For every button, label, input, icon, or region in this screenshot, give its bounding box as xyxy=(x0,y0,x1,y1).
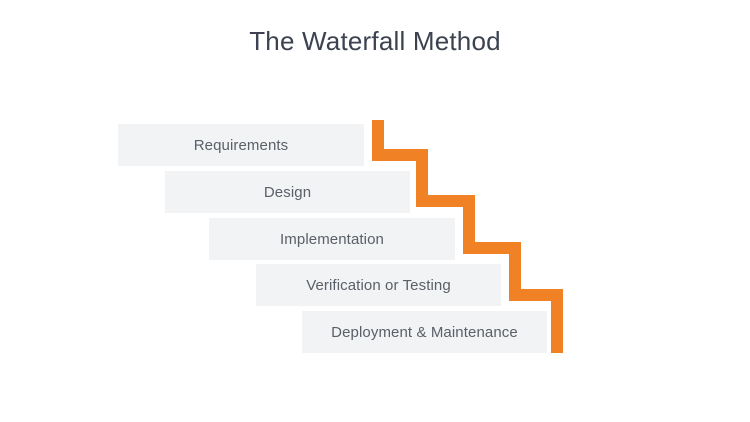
slide-canvas: The Waterfall Method Requirements Design… xyxy=(0,0,750,422)
step-bar-deployment-and-maintenance[interactable]: Deployment & Maintenance xyxy=(302,311,547,353)
step-bar-implementation[interactable]: Implementation xyxy=(209,218,455,260)
step-label: Verification or Testing xyxy=(306,277,451,294)
step-label: Design xyxy=(264,184,311,201)
step-bar-design[interactable]: Design xyxy=(165,171,410,213)
step-label: Requirements xyxy=(194,137,289,154)
waterfall-diagram: Requirements Design Implementation Verif… xyxy=(0,0,750,422)
step-label: Deployment & Maintenance xyxy=(331,324,518,341)
step-bar-verification-or-testing[interactable]: Verification or Testing xyxy=(256,264,501,306)
step-bar-requirements[interactable]: Requirements xyxy=(118,124,364,166)
step-label: Implementation xyxy=(280,231,384,248)
